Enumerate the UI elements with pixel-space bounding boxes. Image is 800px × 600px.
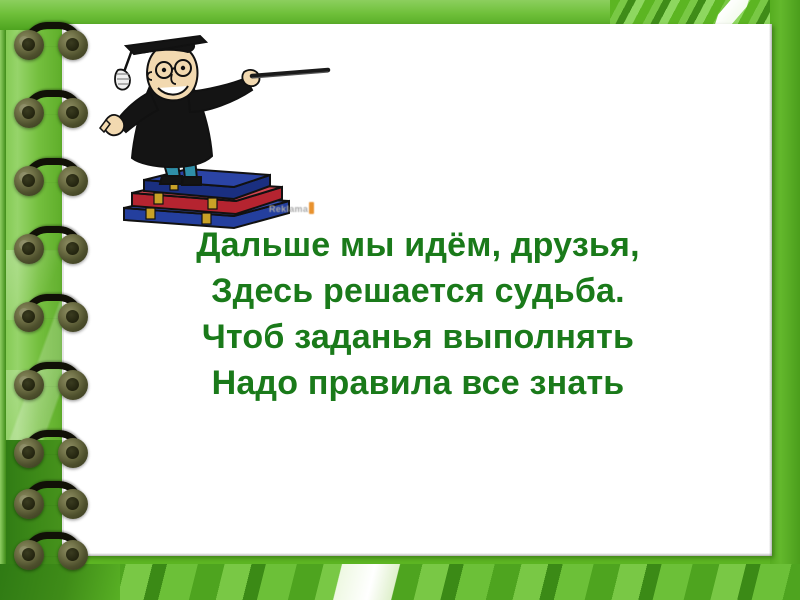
verse-line-2: Здесь решается судьба. bbox=[64, 268, 772, 314]
frame-bottom-dark-corner bbox=[0, 564, 120, 600]
frame-left-highlight-upper bbox=[0, 250, 62, 320]
frame-bottom-band bbox=[0, 564, 800, 600]
clipart-watermark: Reklama bbox=[269, 202, 314, 214]
verse-line-3: Чтоб заданья выполнять bbox=[64, 314, 772, 360]
slide-canvas: Reklama Дальше мы идём, друзья, Здесь ре… bbox=[0, 0, 800, 600]
notebook-page: Reklama Дальше мы идём, друзья, Здесь ре… bbox=[62, 24, 772, 556]
book-stack bbox=[124, 169, 289, 228]
frame-bottom-white-stripe bbox=[330, 564, 404, 600]
frame-right-band bbox=[770, 0, 800, 600]
frame-left-edge bbox=[0, 0, 6, 600]
verse-line-4: Надо правила все знать bbox=[64, 360, 772, 406]
professor-head bbox=[147, 44, 197, 100]
frame-left-highlight-lower bbox=[0, 370, 62, 450]
verse-text-block: Дальше мы идём, друзья, Здесь решается с… bbox=[64, 222, 772, 406]
watermark-accent-mark bbox=[309, 202, 314, 214]
page-bottom-shadow bbox=[64, 553, 772, 556]
verse-line-1: Дальше мы идём, друзья, bbox=[64, 222, 772, 268]
professor-clipart: Reklama bbox=[84, 32, 344, 237]
pointer-stick bbox=[252, 70, 328, 78]
